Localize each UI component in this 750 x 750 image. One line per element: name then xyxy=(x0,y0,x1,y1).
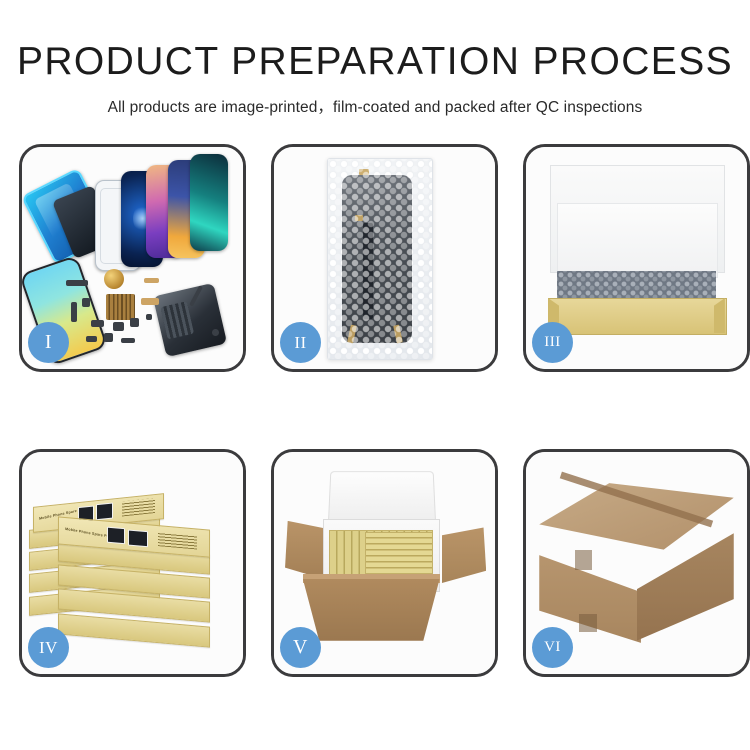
panel-inner-box-image: III xyxy=(526,147,747,369)
process-step-grid: I II xyxy=(19,144,731,677)
flex-cable xyxy=(363,223,372,319)
part-chip-2 xyxy=(71,302,78,322)
panel-stacked-boxes-image: Mobile Phone Spare Parts Mobile Phone Sp… xyxy=(22,452,243,674)
phone-teal-display xyxy=(190,154,228,252)
carton-top-face xyxy=(539,483,733,550)
box-label-lines-front xyxy=(157,531,196,549)
carton-seam-lower xyxy=(579,614,597,632)
panel-sealed-carton-image: VI xyxy=(526,452,747,674)
box-label-image-front-2 xyxy=(128,529,148,547)
wrapped-screen-assembly xyxy=(342,175,413,343)
panel-inner-box: III xyxy=(523,144,750,372)
part-chip-7 xyxy=(146,314,153,321)
part-chip-4 xyxy=(91,320,104,327)
foam-sheet xyxy=(557,203,718,278)
part-chip-1 xyxy=(66,280,88,285)
part-chip-gold-1 xyxy=(144,278,159,283)
panel-products: I xyxy=(19,144,246,372)
step-badge-6: VI xyxy=(532,627,573,668)
tape-tab-mid xyxy=(355,215,363,221)
carton-seam-upper xyxy=(575,550,593,570)
packed-units-right xyxy=(365,532,433,574)
step-badge-3: III xyxy=(532,322,573,363)
part-chip-10 xyxy=(121,338,134,344)
step-badge-4: IV xyxy=(28,627,69,668)
page-header: PRODUCT PREPARATION PROCESS All products… xyxy=(0,0,750,117)
panel-stacked-boxes: Mobile Phone Spare Parts Mobile Phone Sp… xyxy=(19,449,246,677)
step-badge-2: II xyxy=(280,322,321,363)
panel-sealed-carton: VI xyxy=(523,449,750,677)
page-title: PRODUCT PREPARATION PROCESS xyxy=(0,0,750,85)
step-badge-1: I xyxy=(28,322,69,363)
panel-bubble-wrap-image: II xyxy=(274,147,495,369)
box-label-image-front-1 xyxy=(107,527,125,545)
screw-part xyxy=(212,329,219,336)
carton-flap-right xyxy=(442,527,486,583)
part-chip-5 xyxy=(113,322,124,331)
step-badge-5: V xyxy=(280,627,321,668)
part-chip-9 xyxy=(104,333,113,342)
part-chip-6 xyxy=(130,318,139,327)
panel-products-image: I xyxy=(22,147,243,369)
page-subtitle: All products are image-printed，film-coat… xyxy=(0,85,750,117)
box-label-lines-rear xyxy=(121,499,154,517)
carton-front-panel xyxy=(303,579,440,641)
connector-grid-part xyxy=(106,294,135,321)
panel-foam-carton-image: V xyxy=(274,452,495,674)
phone-back-housing xyxy=(153,283,227,357)
part-chip-3 xyxy=(82,298,91,307)
yellow-box-base xyxy=(548,298,727,336)
bubble-padding-layer xyxy=(557,271,716,300)
box-label-image-rear-2 xyxy=(96,503,113,521)
bubble-wrap-bag xyxy=(327,158,433,360)
part-chip-gold-2 xyxy=(141,298,159,305)
part-chip-8 xyxy=(86,336,97,343)
tape-tab-top xyxy=(359,169,368,175)
speaker-component-icon xyxy=(104,269,124,289)
panel-foam-carton: V xyxy=(271,449,498,677)
panel-bubble-wrap: II xyxy=(271,144,498,372)
